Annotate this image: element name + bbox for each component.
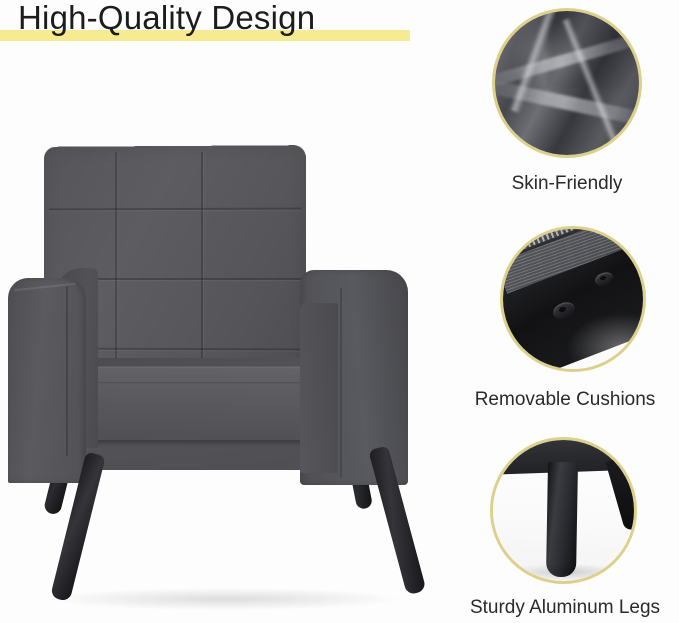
hero-chair-image (0, 118, 445, 618)
page-title: High-Quality Design (18, 0, 315, 38)
chair-arm-right-seam (340, 288, 342, 478)
fabric-texture-art (492, 8, 642, 158)
chair-floor-shadow (50, 588, 400, 610)
chair-arm-left-seam (66, 286, 68, 456)
callout-skin-friendly-label: Skin-Friendly (492, 172, 642, 196)
zipper-highlight (567, 313, 646, 372)
chair-leg-closeup-center (546, 462, 578, 578)
callout-removable-cushions-label: Removable Cushions (456, 388, 674, 412)
chair-leg-closeup-art (490, 437, 637, 584)
title-block: High-Quality Design (0, 0, 430, 46)
callout-removable-cushions-image (500, 226, 646, 372)
zipper-art (500, 226, 646, 372)
tuft-seam-horizontal-1 (49, 208, 302, 211)
chair-arm-left (8, 278, 86, 483)
chair-arm-right-front (300, 303, 338, 473)
callout-skin-friendly-image (492, 8, 642, 158)
callout-sturdy-aluminum-legs-label: Sturdy Aluminum Legs (452, 596, 678, 620)
product-infographic-page: High-Quality Design (0, 0, 679, 623)
chair-leg-floor-shadow (511, 564, 621, 580)
callout-sturdy-aluminum-legs-image (490, 437, 637, 584)
